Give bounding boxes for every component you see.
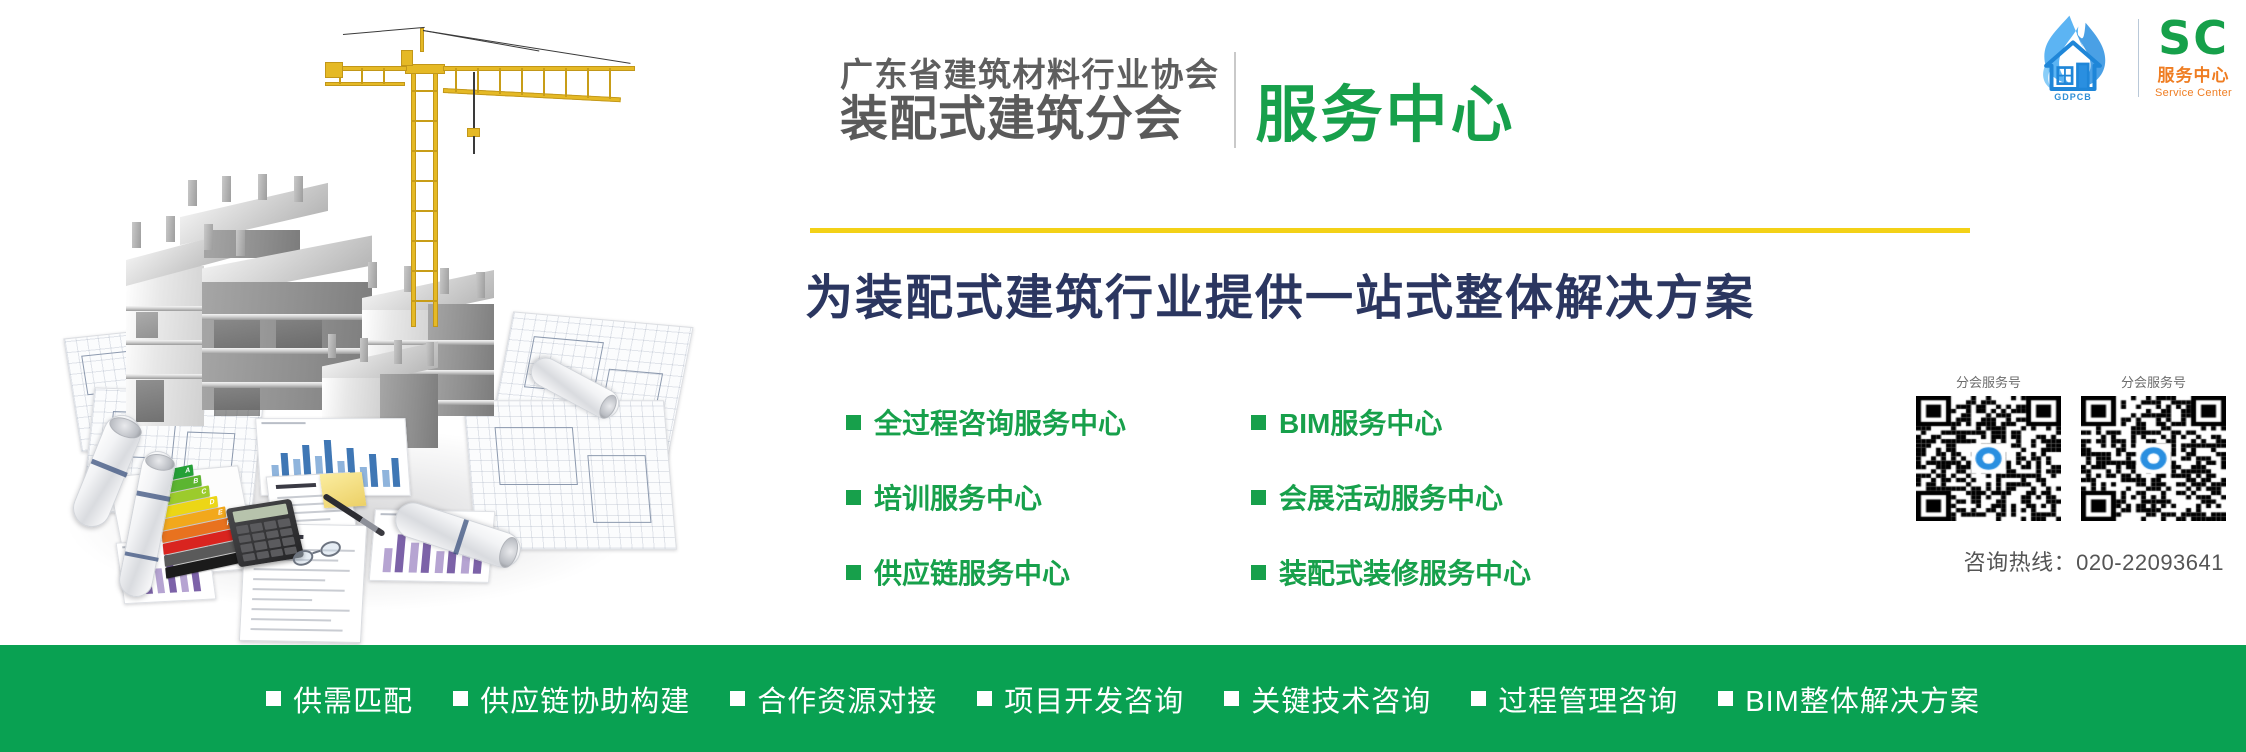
construction-site-illustration: A B C D E F G H I	[0, 0, 700, 645]
headline-block: 广东省建筑材料行业协会 装配式建筑分会 服务中心	[840, 52, 1516, 148]
bottom-bar-item-label: 关键技术咨询	[1251, 678, 1431, 720]
bottom-bar-item[interactable]: 供需匹配	[266, 678, 413, 720]
brand-logo: GDPCB SC 服务中心 Service Center	[2024, 12, 2232, 104]
service-item[interactable]: BIM服务中心	[1251, 402, 1846, 442]
bullet-square-icon	[1471, 691, 1486, 706]
service-item-label: 装配式装修服务中心	[1279, 552, 1531, 592]
logo-caption: GDPCB	[2024, 92, 2122, 102]
banner-content: GDPCB SC 服务中心 Service Center 广东省建筑材料行业协会…	[700, 0, 2246, 645]
bottom-bar-item-label: BIM整体解决方案	[1745, 678, 1980, 720]
bullet-square-icon	[1224, 691, 1239, 706]
service-item[interactable]: 供应链服务中心	[846, 552, 1251, 592]
service-item-label: 会展活动服务中心	[1279, 477, 1503, 517]
bottom-bar-item-label: 过程管理咨询	[1498, 678, 1678, 720]
bullet-square-icon	[1251, 415, 1266, 430]
bullet-square-icon	[266, 691, 281, 706]
headline-divider	[1234, 52, 1236, 148]
tagline: 为装配式建筑行业提供一站式整体解决方案	[805, 258, 1755, 328]
service-item[interactable]: 培训服务中心	[846, 477, 1251, 517]
service-item[interactable]: 全过程咨询服务中心	[846, 402, 1251, 442]
bullet-square-icon	[453, 691, 468, 706]
service-item-label: 全过程咨询服务中心	[874, 402, 1126, 442]
qr-code-image[interactable]	[2081, 396, 2226, 521]
service-center-title: 服务中心	[1256, 83, 1516, 148]
bottom-bar-item[interactable]: 供应链协助构建	[453, 678, 690, 720]
qr-caption: 分会服务号	[2081, 372, 2226, 391]
bottom-service-bar: 供需匹配 供应链协助构建 合作资源对接 项目开发咨询 关键技术咨询 过程管理咨询…	[0, 645, 2246, 752]
association-line-2: 装配式建筑分会	[840, 95, 1220, 144]
hotline-text: 咨询热线：020-22093641	[1964, 545, 2224, 577]
bullet-square-icon	[1718, 691, 1733, 706]
bottom-bar-item-label: 供需匹配	[293, 678, 413, 720]
service-item[interactable]: 装配式装修服务中心	[1251, 552, 1846, 592]
promotional-banner: A B C D E F G H I	[0, 0, 2246, 752]
service-item-label: 培训服务中心	[874, 477, 1042, 517]
bottom-bar-item-label: 合作资源对接	[757, 678, 937, 720]
tower-crane	[215, 10, 635, 340]
service-item-label: 供应链服务中心	[874, 552, 1070, 592]
bottom-bar-item[interactable]: 合作资源对接	[730, 678, 937, 720]
bottom-bar-item-label: 供应链协助构建	[480, 678, 690, 720]
bullet-square-icon	[977, 691, 992, 706]
sc-chinese-label: 服务中心	[2158, 61, 2230, 86]
bullet-square-icon	[846, 415, 861, 430]
association-line-1: 广东省建筑材料行业协会	[840, 56, 1220, 95]
association-name: 广东省建筑材料行业协会 装配式建筑分会	[840, 56, 1220, 144]
bullet-square-icon	[730, 691, 745, 706]
bottom-bar-item[interactable]: 关键技术咨询	[1224, 678, 1431, 720]
bullet-square-icon	[1251, 565, 1266, 580]
bottom-bar-item[interactable]: 过程管理咨询	[1471, 678, 1678, 720]
bottom-bar-item[interactable]: 项目开发咨询	[977, 678, 1184, 720]
service-item-label: BIM服务中心	[1279, 402, 1442, 442]
sc-abbrev: SC	[2158, 17, 2229, 61]
bottom-bar-item[interactable]: BIM整体解决方案	[1718, 678, 1980, 720]
gold-rule	[810, 228, 1970, 233]
logo-divider	[2138, 19, 2139, 97]
calculator-keys	[236, 518, 298, 562]
bullet-square-icon	[846, 565, 861, 580]
bottom-bar-item-label: 项目开发咨询	[1004, 678, 1184, 720]
qr-caption: 分会服务号	[1916, 372, 2061, 391]
sc-english-label: Service Center	[2155, 87, 2232, 99]
sc-lockup: SC 服务中心 Service Center	[2155, 17, 2232, 100]
service-list: 全过程咨询服务中心 BIM服务中心 培训服务中心 会展活动服务中心 供应链服务中…	[846, 402, 1846, 592]
flame-house-icon: GDPCB	[2024, 12, 2122, 104]
sticky-note	[320, 472, 367, 508]
qr-code-block: 分会服务号 分会服务号	[1916, 372, 2226, 521]
qr-code-image[interactable]	[1916, 396, 2061, 521]
bullet-square-icon	[1251, 490, 1266, 505]
service-item[interactable]: 会展活动服务中心	[1251, 477, 1846, 517]
bullet-square-icon	[846, 490, 861, 505]
